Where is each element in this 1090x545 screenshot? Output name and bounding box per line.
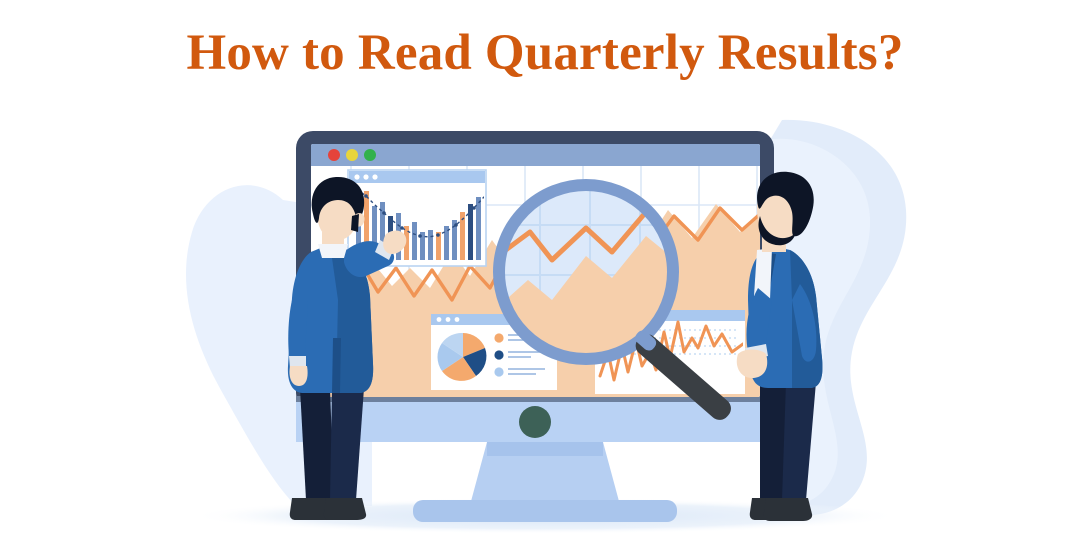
panel-dot-2-icon — [363, 174, 368, 179]
pie-panel-dot-2-icon — [446, 317, 451, 322]
maximize-dot-icon[interactable] — [364, 149, 376, 161]
legend-dot-navy-icon — [494, 350, 503, 359]
monitor-stand-collar — [487, 442, 603, 456]
minimize-dot-icon[interactable] — [346, 149, 358, 161]
presenter-left-shoe-near — [324, 498, 366, 520]
analyst-right-shoe-near — [764, 498, 812, 521]
bar-chart-panel-titlebar — [349, 171, 485, 183]
monitor-stand-group — [413, 442, 677, 522]
presenter-left-leg-far — [300, 388, 334, 500]
panel-dot-3-icon — [372, 174, 377, 179]
monitor-power-button[interactable] — [519, 406, 551, 438]
close-dot-icon[interactable] — [328, 149, 340, 161]
presenter-left-collar — [318, 244, 348, 258]
pie-panel-dot-1-icon — [437, 317, 442, 322]
presenter-left-sideburn — [351, 214, 359, 232]
presenter-left-jacket-vent — [332, 338, 341, 393]
illustration-canvas: How to Read Quarterly Results? — [0, 0, 1090, 545]
pie-panel-dot-3-icon — [455, 317, 460, 322]
scene-illustration — [0, 0, 1090, 545]
monitor-stand-base — [413, 500, 677, 522]
legend-dot-lightblue-icon — [494, 367, 503, 376]
legend-dot-orange-icon — [494, 333, 503, 342]
panel-dot-1-icon — [354, 174, 359, 179]
browser-titlebar — [311, 144, 760, 166]
